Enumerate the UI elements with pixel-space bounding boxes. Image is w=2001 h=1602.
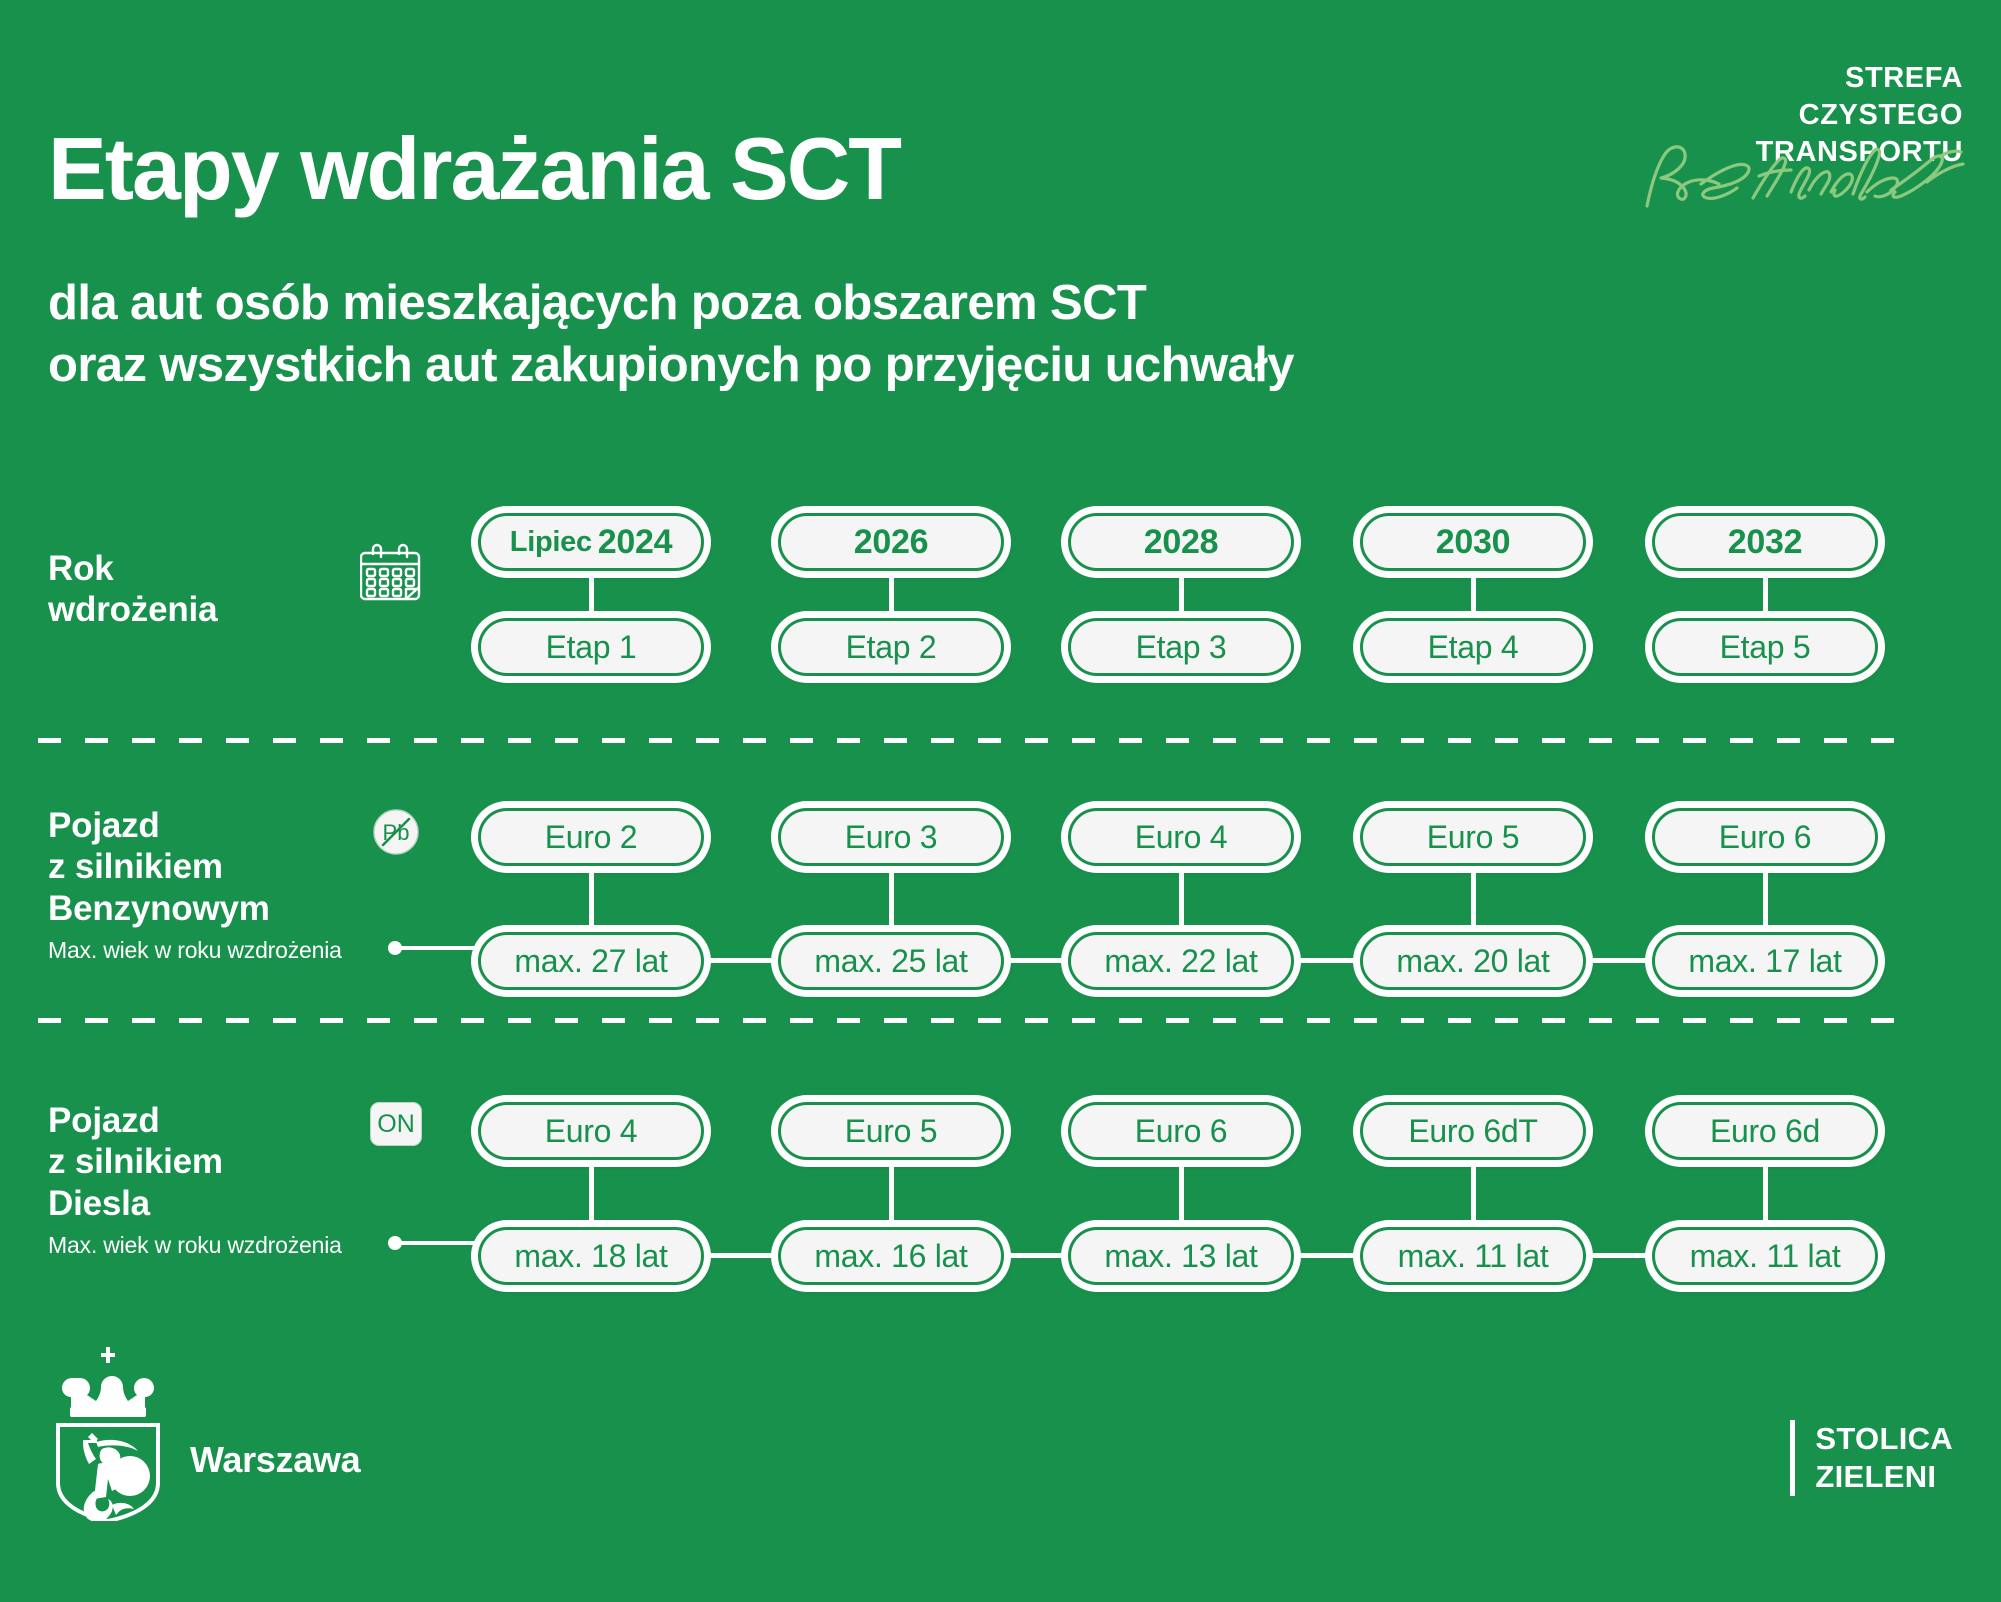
connector-vertical-diesel-5 xyxy=(1763,1152,1768,1235)
divider-2 xyxy=(38,1018,1898,1023)
page-subtitle-line1: dla aut osób mieszkających poza obszarem… xyxy=(48,272,1294,334)
connector-vertical-diesel-1 xyxy=(589,1152,594,1235)
warszawa-logo: Warszawa xyxy=(50,1345,360,1521)
row-label-benzyna: Pojazd z silnikiem Benzynowym Max. wiek … xyxy=(48,805,342,964)
pill-diesel-bottom-3: max. 13 lat xyxy=(1068,1227,1294,1285)
row-label-benz-line3: Benzynowym xyxy=(48,888,342,929)
connector-vertical-diesel-3 xyxy=(1179,1152,1184,1235)
row-label-benz-line2: z silnikiem xyxy=(48,846,342,887)
row-label-benz-line1: Pojazd xyxy=(48,805,342,846)
connector-vertical-rok-1 xyxy=(589,563,594,626)
pill-benzyna-bottom-4: max. 20 lat xyxy=(1360,932,1586,990)
pill-rok-top-1: Lipiec2024 xyxy=(478,513,704,571)
row-label-diesel-line3: Diesla xyxy=(48,1183,342,1224)
pill-rok-top-3: 2028 xyxy=(1068,513,1294,571)
pill-year-number-1: 2024 xyxy=(598,523,672,562)
pill-benzyna-bottom-2: max. 25 lat xyxy=(778,932,1004,990)
warszawa-label: Warszawa xyxy=(190,1439,360,1521)
connector-vertical-diesel-2 xyxy=(889,1152,894,1235)
pill-rok-bottom-1: Etap 1 xyxy=(478,618,704,676)
brand-line-3: TRANSPORTU xyxy=(1756,134,1963,171)
infographic-canvas: Etapy wdrażania SCT dla aut osób mieszka… xyxy=(0,0,2001,1602)
pill-rok-bottom-2: Etap 2 xyxy=(778,618,1004,676)
stolica-divider-bar xyxy=(1790,1420,1795,1496)
stolica-line-2: ZIELENI xyxy=(1815,1458,1953,1496)
page-subtitle-line2: oraz wszystkich aut zakupionych po przyj… xyxy=(48,334,1294,396)
divider-1 xyxy=(38,738,1898,743)
pill-year-number-5: 2032 xyxy=(1728,523,1802,562)
connector-vertical-rok-2 xyxy=(889,563,894,626)
pill-rok-top-4: 2030 xyxy=(1360,513,1586,571)
pill-diesel-bottom-4: max. 11 lat xyxy=(1360,1227,1586,1285)
connector-horizontal-diesel-4 xyxy=(1586,1253,1652,1258)
pill-rok-bottom-3: Etap 3 xyxy=(1068,618,1294,676)
stolica-zieleni-logo: STOLICA ZIELENI xyxy=(1790,1420,1953,1496)
brand-logo-text: STREFA CZYSTEGO TRANSPORTU xyxy=(1756,60,1963,171)
pill-diesel-top-1: Euro 4 xyxy=(478,1102,704,1160)
pill-benzyna-top-5: Euro 6 xyxy=(1652,808,1878,866)
pill-benzyna-top-4: Euro 5 xyxy=(1360,808,1586,866)
connector-horizontal-diesel-2 xyxy=(1004,1253,1068,1258)
pill-diesel-top-4: Euro 6dT xyxy=(1360,1102,1586,1160)
connector-vertical-benzyna-4 xyxy=(1471,858,1476,940)
row-label-diesel-line2: z silnikiem xyxy=(48,1141,342,1182)
row-label-rok-line1: Rok xyxy=(48,548,217,589)
lead-line-diesel xyxy=(393,1241,478,1245)
row-sublabel-diesel: Max. wiek w roku wzdrożenia xyxy=(48,1232,342,1259)
pill-benzyna-top-3: Euro 4 xyxy=(1068,808,1294,866)
connector-horizontal-benzyna-2 xyxy=(1004,958,1068,963)
connector-vertical-rok-4 xyxy=(1471,563,1476,626)
connector-vertical-rok-5 xyxy=(1763,563,1768,626)
pill-benzyna-top-1: Euro 2 xyxy=(478,808,704,866)
pill-rok-bottom-5: Etap 5 xyxy=(1652,618,1878,676)
pill-rok-top-2: 2026 xyxy=(778,513,1004,571)
connector-horizontal-benzyna-1 xyxy=(704,958,778,963)
calendar-icon xyxy=(360,540,424,606)
connector-vertical-benzyna-3 xyxy=(1179,858,1184,940)
pill-diesel-bottom-1: max. 18 lat xyxy=(478,1227,704,1285)
connector-vertical-benzyna-1 xyxy=(589,858,594,940)
warszawa-coat-of-arms-icon xyxy=(50,1345,166,1521)
row-label-diesel: Pojazd z silnikiem Diesla Max. wiek w ro… xyxy=(48,1100,342,1259)
pill-year-prefix-1: Lipiec xyxy=(510,526,592,559)
lead-line-benzyna xyxy=(393,946,478,950)
pill-diesel-bottom-2: max. 16 lat xyxy=(778,1227,1004,1285)
connector-vertical-rok-3 xyxy=(1179,563,1184,626)
row-sublabel-benzyna: Max. wiek w roku wzdrożenia xyxy=(48,937,342,964)
pill-rok-top-5: 2032 xyxy=(1652,513,1878,571)
pill-diesel-bottom-5: max. 11 lat xyxy=(1652,1227,1878,1285)
pill-diesel-top-3: Euro 6 xyxy=(1068,1102,1294,1160)
pill-benzyna-top-2: Euro 3 xyxy=(778,808,1004,866)
pill-benzyna-bottom-1: max. 27 lat xyxy=(478,932,704,990)
pill-year-number-3: 2028 xyxy=(1144,523,1218,562)
connector-vertical-diesel-4 xyxy=(1471,1152,1476,1235)
stolica-zieleni-text: STOLICA ZIELENI xyxy=(1815,1420,1953,1496)
row-label-rok-line2: wdrożenia xyxy=(48,589,217,630)
stolica-line-1: STOLICA xyxy=(1815,1420,1953,1458)
pill-benzyna-bottom-3: max. 22 lat xyxy=(1068,932,1294,990)
connector-vertical-benzyna-5 xyxy=(1763,858,1768,940)
brand-line-2: CZYSTEGO xyxy=(1756,97,1963,134)
connector-horizontal-diesel-1 xyxy=(704,1253,778,1258)
page-subtitle: dla aut osób mieszkających poza obszarem… xyxy=(48,272,1294,396)
connector-horizontal-benzyna-4 xyxy=(1586,958,1652,963)
connector-horizontal-benzyna-3 xyxy=(1294,958,1360,963)
pill-benzyna-bottom-5: max. 17 lat xyxy=(1652,932,1878,990)
diesel-on-icon: ON xyxy=(370,1102,422,1146)
pill-diesel-top-5: Euro 6d xyxy=(1652,1102,1878,1160)
page-title: Etapy wdrażania SCT xyxy=(48,125,900,213)
connector-horizontal-diesel-3 xyxy=(1294,1253,1360,1258)
no-lead-petrol-icon: Pb xyxy=(372,808,420,856)
pill-year-number-2: 2026 xyxy=(854,523,928,562)
pill-rok-bottom-4: Etap 4 xyxy=(1360,618,1586,676)
row-label-diesel-line1: Pojazd xyxy=(48,1100,342,1141)
pill-diesel-top-2: Euro 5 xyxy=(778,1102,1004,1160)
row-label-rok-wdrozenia: Rok wdrożenia xyxy=(48,548,217,631)
brand-line-1: STREFA xyxy=(1756,60,1963,97)
pill-year-number-4: 2030 xyxy=(1436,523,1510,562)
connector-vertical-benzyna-2 xyxy=(889,858,894,940)
diesel-on-icon-label: ON xyxy=(370,1102,422,1146)
